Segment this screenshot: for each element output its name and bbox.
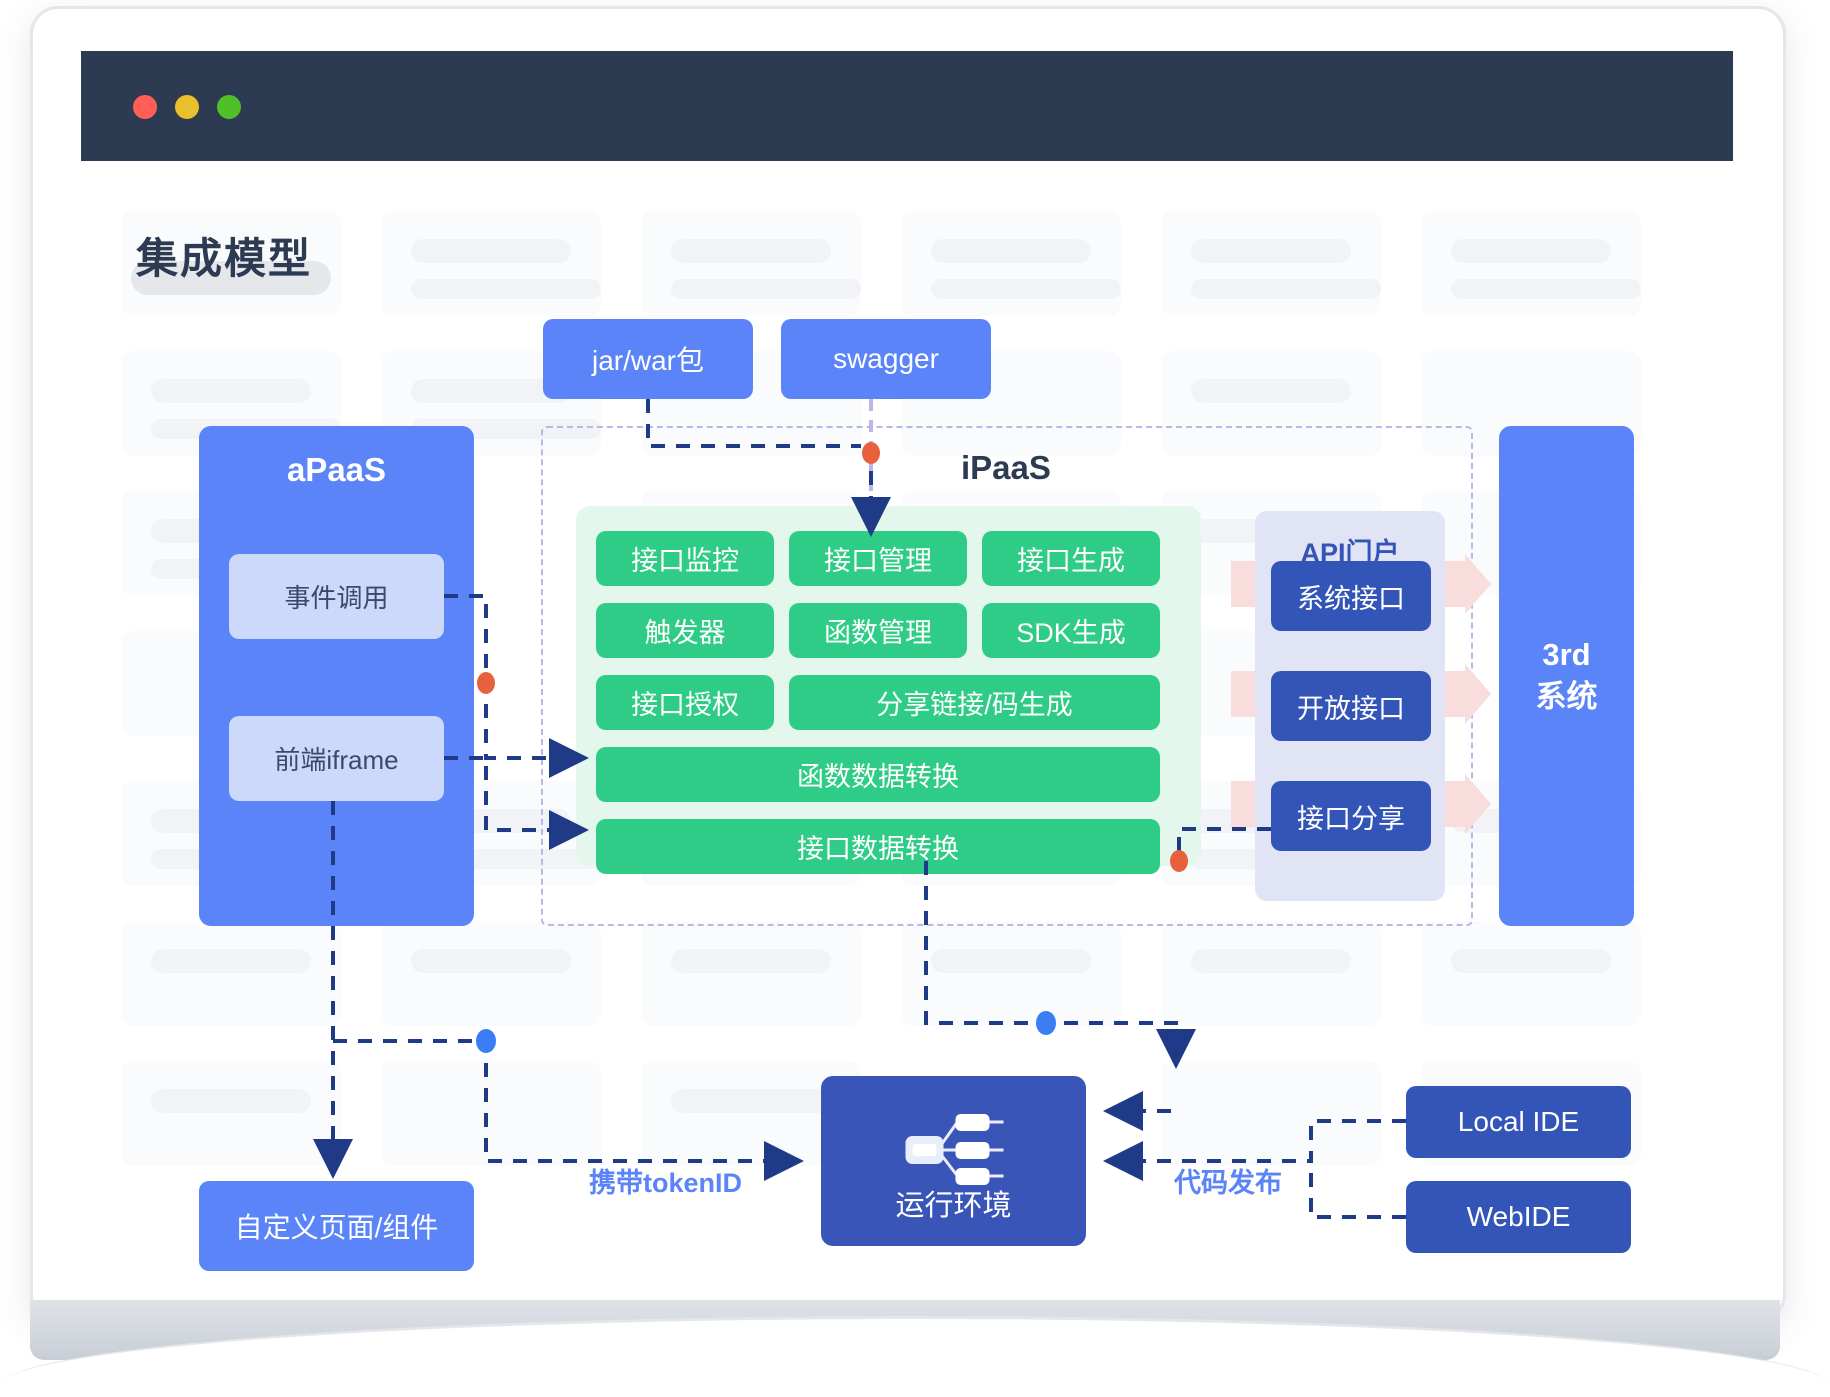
- source-box-jar-war[interactable]: jar/war包: [543, 319, 753, 399]
- wire-local-ide-to-runtime: [1111, 1121, 1406, 1161]
- apaas-item-frontend-iframe[interactable]: 前端iframe: [229, 716, 444, 801]
- ipaas-cap-sdk-generation[interactable]: SDK生成: [982, 603, 1160, 658]
- page-title: 集成模型: [126, 223, 322, 288]
- custom-page-component[interactable]: 自定义页面/组件: [199, 1181, 474, 1271]
- browser-chrome: [81, 51, 1733, 161]
- edge-label-token: 携带tokenID: [589, 1161, 742, 1200]
- source-box-swagger[interactable]: swagger: [781, 319, 991, 399]
- maximize-green-icon[interactable]: [217, 95, 241, 119]
- api-portal-item-open-interface[interactable]: 开放接口: [1271, 671, 1431, 741]
- apaas-item-event-call[interactable]: 事件调用: [229, 554, 444, 639]
- local-ide-box[interactable]: Local IDE: [1406, 1086, 1631, 1158]
- window-controls: [133, 95, 241, 119]
- apaas-title: aPaaS: [199, 451, 474, 489]
- ipaas-cap-share-link-qr[interactable]: 分享链接/码生成: [789, 675, 1160, 730]
- runtime-environment[interactable]: 运行环境: [821, 1076, 1086, 1246]
- node-tree-icon: [891, 1110, 1016, 1190]
- ipaas-cap-function-management[interactable]: 函数管理: [789, 603, 967, 658]
- web-ide-box[interactable]: WebIDE: [1406, 1181, 1631, 1253]
- blue-node-center: [1036, 1011, 1056, 1035]
- ipaas-row-interface-data-transform[interactable]: 接口数据转换: [596, 819, 1160, 874]
- edge-label-deploy: 代码发布: [1174, 1161, 1282, 1200]
- apaas-column[interactable]: [199, 426, 474, 926]
- ipaas-cap-interface-management[interactable]: 接口管理: [789, 531, 967, 586]
- third-party-line1: 3rd: [1542, 634, 1590, 676]
- third-party-line2: 系统: [1536, 676, 1598, 718]
- ipaas-cap-trigger[interactable]: 触发器: [596, 603, 774, 658]
- ipaas-row-function-data-transform[interactable]: 函数数据转换: [596, 747, 1160, 802]
- screen-root: 集成模型 jar/war包 swagger aPaaS 事件调用 前端ifram…: [0, 0, 1830, 1397]
- diagram-canvas: 集成模型 jar/war包 swagger aPaaS 事件调用 前端ifram…: [81, 161, 1733, 1286]
- ipaas-cap-interface-generation[interactable]: 接口生成: [982, 531, 1160, 586]
- ipaas-cap-interface-auth[interactable]: 接口授权: [596, 675, 774, 730]
- device-screen: 集成模型 jar/war包 swagger aPaaS 事件调用 前端ifram…: [81, 51, 1733, 1286]
- blue-node-left: [476, 1029, 496, 1053]
- wire-token-to-runtime: [333, 1041, 796, 1161]
- ipaas-title: iPaaS: [961, 449, 1051, 487]
- device-frame: 集成模型 jar/war包 swagger aPaaS 事件调用 前端ifram…: [30, 6, 1786, 1322]
- orange-node-apaas: [477, 672, 495, 694]
- minimize-yellow-icon[interactable]: [175, 95, 199, 119]
- api-portal-item-interface-share[interactable]: 接口分享: [1271, 781, 1431, 851]
- ipaas-cap-interface-monitor[interactable]: 接口监控: [596, 531, 774, 586]
- wire-webide-to-runtime: [1311, 1161, 1406, 1217]
- third-party-system[interactable]: 3rd 系统: [1499, 426, 1634, 926]
- close-red-icon[interactable]: [133, 95, 157, 119]
- api-portal-item-system-interface[interactable]: 系统接口: [1271, 561, 1431, 631]
